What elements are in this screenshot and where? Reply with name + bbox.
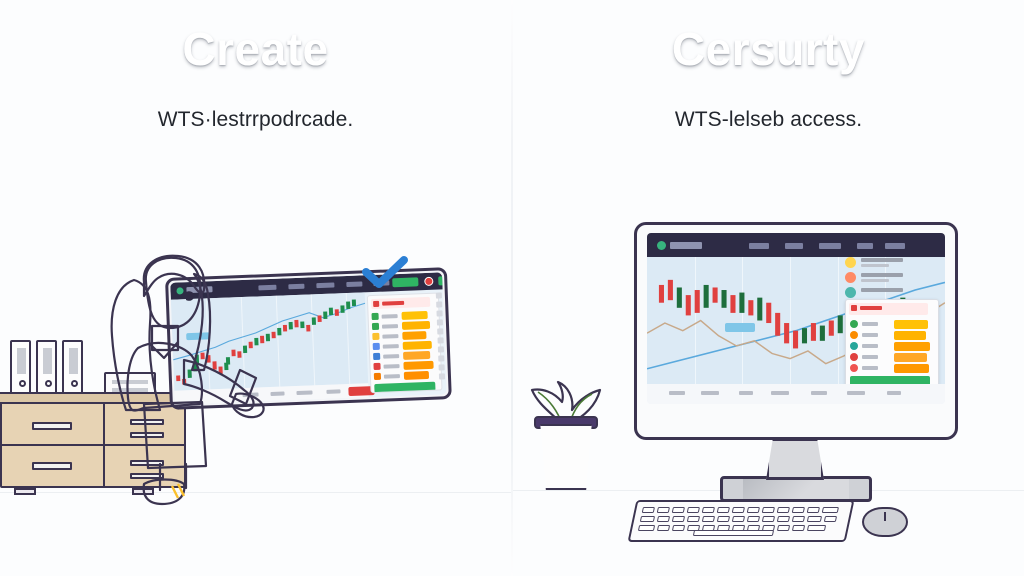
mover-row[interactable]: [850, 353, 930, 362]
asset-icon: [850, 353, 858, 361]
top-movers-panel: [367, 293, 443, 394]
value-bar: [894, 342, 930, 351]
time-tick: [847, 391, 865, 395]
asset-label: [862, 333, 878, 337]
binder-icon: [62, 340, 83, 394]
nav-item-signals[interactable]: [885, 243, 905, 249]
time-tick: [887, 391, 901, 395]
nav-item-trade[interactable]: [288, 284, 304, 290]
mover-row[interactable]: [371, 311, 432, 321]
top-movers-panel: [845, 299, 939, 397]
notification-title: [861, 288, 903, 292]
panel-title-row: [849, 303, 928, 315]
illustration-canvas: Create WTS·lestrrpodrcade.: [0, 0, 1024, 576]
drawer-handle: [32, 462, 72, 470]
list-item[interactable]: [845, 272, 937, 284]
brand-logo-icon: [657, 241, 666, 250]
subtitle-right: WTS-lelseb access.: [513, 108, 1024, 132]
monitor-screen: [647, 233, 945, 404]
asset-icon: [373, 343, 380, 350]
mover-row[interactable]: [372, 331, 433, 341]
time-tick: [669, 391, 685, 395]
desktop-monitor: [634, 222, 958, 440]
plant-pot: [538, 424, 594, 490]
asset-icon: [372, 323, 379, 330]
nav-item-assets[interactable]: [857, 243, 873, 249]
asset-label: [383, 354, 399, 358]
notification-title: [861, 273, 903, 277]
potted-plant: [520, 368, 606, 496]
asset-label: [862, 322, 878, 326]
mover-row[interactable]: [373, 341, 434, 351]
mover-row[interactable]: [372, 321, 433, 331]
monitor-stand: [766, 438, 824, 480]
panel-title-row: [371, 297, 430, 309]
nav-item-trade[interactable]: [785, 243, 803, 249]
subtitle-left: WTS·lestrrpodrcade.: [0, 108, 511, 132]
buy-now-button[interactable]: [374, 382, 435, 393]
dashboard-header: [647, 233, 945, 257]
panel-left: Create WTS·lestrrpodrcade.: [0, 0, 511, 576]
value-bar: [401, 311, 427, 320]
asset-label: [862, 366, 878, 370]
list-item[interactable]: [845, 287, 937, 299]
asset-label: [862, 355, 878, 359]
value-bar: [894, 331, 926, 340]
notification-icon: [845, 257, 856, 268]
value-bar: [894, 364, 929, 373]
nav-item-wallet[interactable]: [316, 283, 334, 289]
time-tick: [296, 390, 312, 395]
value-bar: [403, 351, 430, 360]
value-bar: [402, 321, 430, 330]
binder-icon: [10, 340, 31, 394]
asset-icon: [374, 373, 381, 380]
mouse[interactable]: [862, 507, 908, 537]
mover-row[interactable]: [850, 320, 930, 329]
asset-label: [382, 314, 398, 318]
asset-icon: [850, 320, 858, 328]
mover-row[interactable]: [373, 361, 434, 371]
value-bar: [402, 331, 426, 340]
binder-shelf: [10, 340, 90, 396]
key-row: [642, 507, 845, 513]
time-tick: [771, 391, 789, 395]
asset-icon: [373, 363, 380, 370]
value-bar: [894, 320, 928, 329]
drawer-handle: [32, 422, 72, 430]
time-tick: [739, 391, 753, 395]
time-tick: [701, 391, 719, 395]
asset-icon: [373, 353, 380, 360]
spacebar-key: [693, 530, 774, 536]
person-illustration: [86, 252, 286, 512]
nav-item-market[interactable]: [749, 243, 769, 249]
brand-logo-label: [670, 242, 702, 249]
value-bar: [894, 353, 927, 362]
asset-label: [384, 374, 400, 378]
asset-icon: [850, 342, 858, 350]
cabinet-foot: [14, 488, 36, 495]
asset-label: [383, 344, 399, 348]
list-item[interactable]: [845, 257, 937, 269]
asset-label: [383, 364, 399, 368]
nav-item-wallet[interactable]: [819, 243, 841, 249]
notification-list: [845, 257, 937, 301]
time-tick: [326, 389, 340, 394]
notification-subtitle: [861, 279, 889, 282]
time-tick: [811, 391, 827, 395]
notification-icon: [845, 287, 856, 298]
notification-title: [861, 258, 903, 262]
checkmark-icon: [362, 256, 408, 290]
asset-icon: [850, 331, 858, 339]
asset-icon: [371, 313, 378, 320]
mover-row[interactable]: [850, 331, 930, 340]
notification-subtitle: [861, 264, 889, 267]
value-bar: [403, 341, 432, 350]
value-bar: [403, 361, 433, 370]
chart-timeline: [647, 384, 945, 404]
mover-row[interactable]: [374, 371, 435, 381]
mover-row[interactable]: [373, 351, 434, 361]
asset-label: [862, 344, 878, 348]
heading-right: Cersurty: [513, 22, 1024, 76]
nav-item-assets[interactable]: [346, 281, 362, 287]
asset-icon: [372, 333, 379, 340]
keyboard[interactable]: [628, 500, 855, 542]
notification-icon: [845, 272, 856, 283]
asset-icon: [850, 364, 858, 372]
asset-label: [382, 334, 398, 338]
mover-row[interactable]: [850, 342, 930, 351]
asset-label: [382, 324, 398, 328]
heading-left: Create: [0, 22, 511, 76]
key-row: [640, 516, 843, 522]
mover-row[interactable]: [850, 364, 930, 373]
chart-marker-tag: [725, 323, 755, 332]
binder-icon: [36, 340, 57, 394]
value-bar: [404, 371, 429, 380]
